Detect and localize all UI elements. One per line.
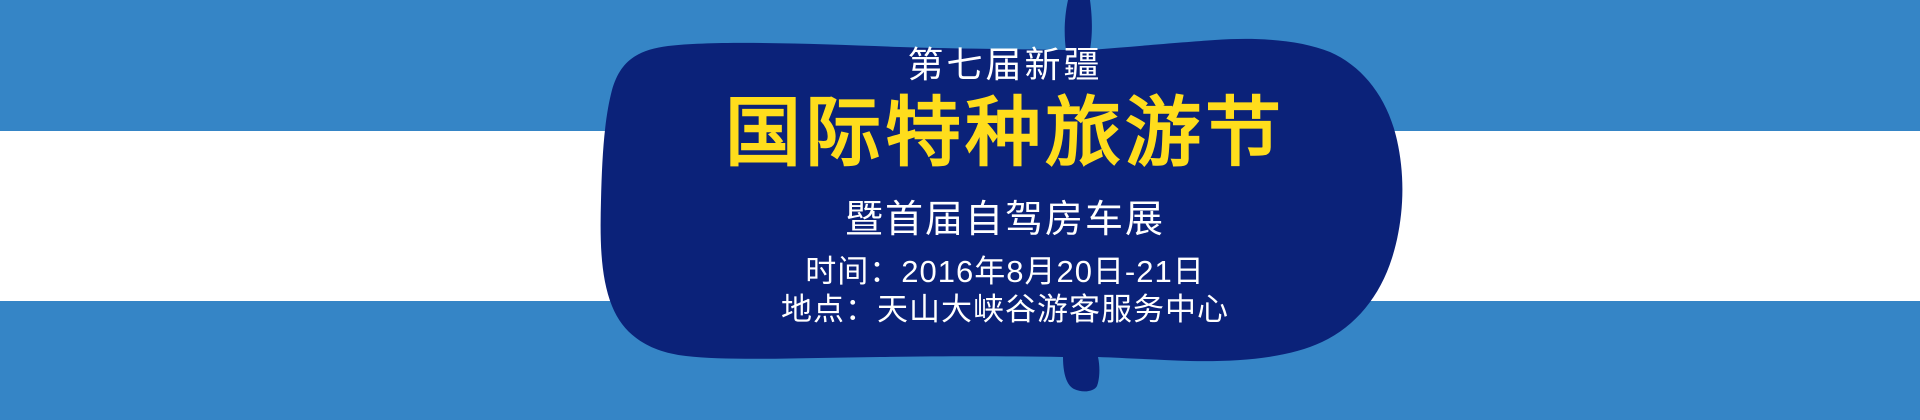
banner-date-line: 时间：2016年8月20日-21日 [600,252,1410,292]
banner-kicker: 第七届新疆 [600,42,1410,88]
event-banner: 第七届新疆 国际特种旅游节 暨首届自驾房车展 时间：2016年8月20日-21日… [0,0,1920,420]
banner-subtitle: 暨首届自驾房车展 [600,196,1410,244]
banner-headline: 国际特种旅游节 [600,92,1410,176]
banner-text-block: 第七届新疆 国际特种旅游节 暨首届自驾房车展 时间：2016年8月20日-21日… [600,0,1410,420]
banner-place-line: 地点：天山大峡谷游客服务中心 [600,290,1410,330]
